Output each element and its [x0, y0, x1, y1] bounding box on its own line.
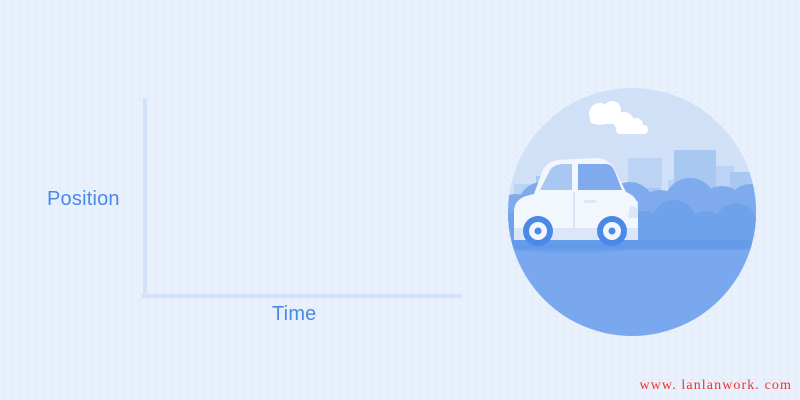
car-wheel-rear — [523, 216, 553, 246]
car-illustration — [508, 88, 756, 336]
canvas-root: Position Time — [0, 0, 800, 400]
car-door-handle — [584, 200, 596, 203]
ground — [508, 248, 756, 336]
site-watermark: www. lanlanwork. com — [639, 378, 792, 394]
car-wheel-front — [597, 216, 627, 246]
y-axis-label: Position — [47, 188, 120, 211]
x-axis-label: Time — [272, 303, 317, 326]
